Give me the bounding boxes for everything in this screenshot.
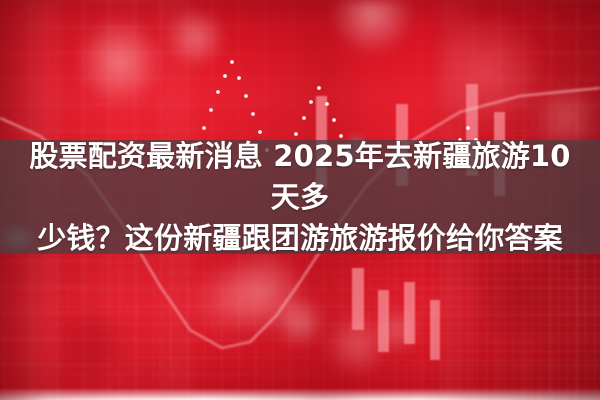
trend-dot [325,102,329,106]
candlestick-bar [430,300,440,360]
trend-dot [317,86,321,90]
trend-dot [302,116,306,120]
trend-dot [223,74,227,78]
trend-dot [258,130,262,134]
candlestick-bar [352,268,364,330]
trend-dot [466,126,470,130]
trend-dot [244,94,248,98]
page-title: 股票配资最新消息 2025年去新疆旅游10天多 少钱？这份新疆跟团游旅游报价给你… [20,136,580,259]
candlestick-bar [404,282,415,344]
banner-image: 股票配资最新消息 2025年去新疆旅游10天多 少钱？这份新疆跟团游旅游报价给你… [0,0,600,400]
trend-dot [202,126,206,130]
trend-dot [309,100,313,104]
trend-dot [237,76,241,80]
headline-overlay-band: 股票配资最新消息 2025年去新疆旅游10天多 少钱？这份新疆跟团游旅游报价给你… [0,140,600,254]
candlestick-bar [378,290,389,352]
trend-dot [230,60,234,64]
trend-dot [251,112,255,116]
trend-dot [209,108,213,112]
trend-dot [216,90,220,94]
trend-dot [332,118,336,122]
